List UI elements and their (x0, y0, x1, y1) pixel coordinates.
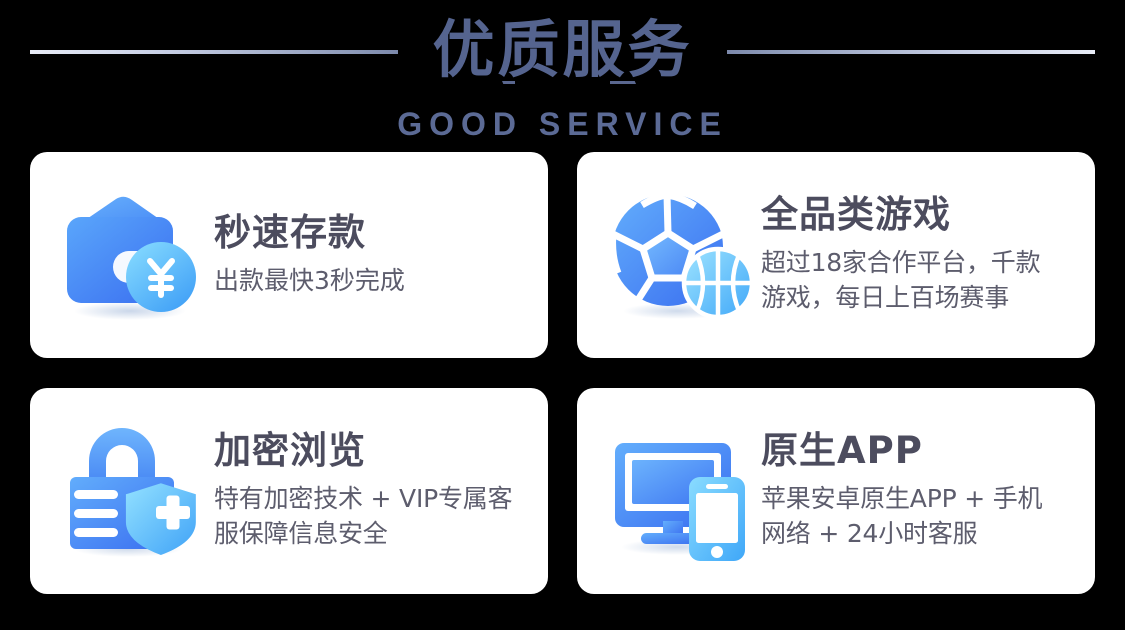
card-subtitle-line: 出款最快3秒完成 (214, 263, 530, 299)
feature-card-encryption[interactable]: 加密浏览 特有加密技术 + VIP专属客 服保障信息安全 (30, 388, 548, 594)
card-subtitle-line: 苹果安卓原生APP + 手机 (761, 481, 1077, 517)
feature-card-text: 原生APP 苹果安卓原生APP + 手机 网络 + 24小时客服 (761, 430, 1077, 552)
header: 优质服务 GOOD SERVICE (0, 0, 1125, 150)
card-subtitle-line: 服保障信息安全 (214, 516, 530, 552)
card-title: 秒速存款 (214, 212, 530, 255)
soccer-basketball-icon (605, 185, 755, 325)
page-title: 优质服务 (398, 19, 726, 81)
card-subtitle: 超过18家合作平台，千款 游戏，每日上百场赛事 (761, 245, 1077, 316)
card-subtitle-line: 特有加密技术 + VIP专属客 (214, 481, 530, 517)
feature-card-deposit[interactable]: 秒速存款 出款最快3秒完成 (30, 152, 548, 358)
card-subtitle-line: 网络 + 24小时客服 (761, 516, 1077, 552)
card-subtitle: 特有加密技术 + VIP专属客 服保障信息安全 (214, 481, 530, 552)
card-subtitle: 出款最快3秒完成 (214, 263, 530, 299)
card-subtitle: 苹果安卓原生APP + 手机 网络 + 24小时客服 (761, 481, 1077, 552)
lock-shield-icon (58, 421, 208, 561)
card-subtitle-line: 游戏，每日上百场赛事 (761, 280, 1077, 316)
title-row: 优质服务 (0, 0, 1125, 100)
card-title: 加密浏览 (214, 430, 530, 473)
monitor-phone-icon (605, 421, 755, 561)
feature-card-text: 秒速存款 出款最快3秒完成 (214, 212, 530, 298)
card-title: 全品类游戏 (761, 194, 1077, 237)
card-title: 原生APP (761, 430, 1077, 473)
card-subtitle-line: 超过18家合作平台，千款 (761, 245, 1077, 281)
feature-card-games[interactable]: 全品类游戏 超过18家合作平台，千款 游戏，每日上百场赛事 (577, 152, 1095, 358)
feature-card-native-app[interactable]: 原生APP 苹果安卓原生APP + 手机 网络 + 24小时客服 (577, 388, 1095, 594)
promo-banner: 优质服务 GOOD SERVICE (0, 0, 1125, 630)
page-subtitle: GOOD SERVICE (397, 106, 728, 143)
feature-card-grid: 秒速存款 出款最快3秒完成 (30, 152, 1095, 594)
feature-card-text: 全品类游戏 超过18家合作平台，千款 游戏，每日上百场赛事 (761, 194, 1077, 316)
wallet-yen-icon (58, 185, 208, 325)
feature-card-text: 加密浏览 特有加密技术 + VIP专属客 服保障信息安全 (214, 430, 530, 552)
